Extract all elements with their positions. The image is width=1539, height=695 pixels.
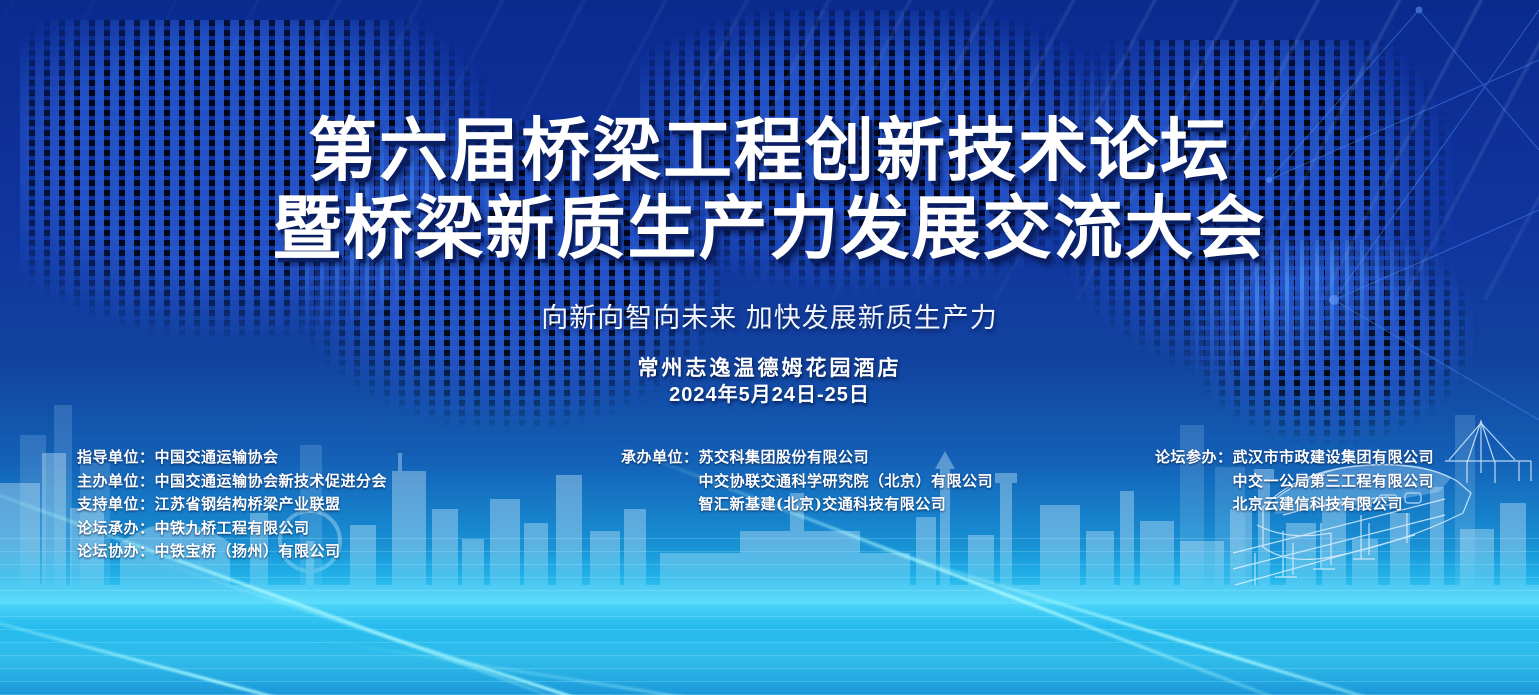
conference-banner: 第六届桥梁工程创新技术论坛 暨桥梁新质生产力发展交流大会 向新向智向未来 加快发… [0,0,1539,695]
event-date: 2024年5月24日-25日 [0,378,1539,407]
credits-section: 指导单位： 中国交通运输协会 主办单位： 中国交通运输协会新技术促进分会 支持单… [0,444,1539,574]
credit-value: 武汉市市政建设集团有限公司 [1233,446,1435,470]
credit-label: 主办单位： [77,470,155,494]
credit-label: 论坛参办： [1155,446,1233,517]
credit-label: 承办单位： [621,446,699,517]
credit-value: 中交一公局第三工程有限公司 [1233,470,1435,494]
credit-value: 江苏省钢结构桥梁产业联盟 [155,493,341,517]
credit-value: 北京云建信科技有限公司 [1233,493,1435,517]
credit-value: 中铁九桥工程有限公司 [155,517,310,541]
credits-column-right: 论坛参办： 武汉市市政建设集团有限公司 中交一公局第三工程有限公司 北京云建信科… [1155,446,1434,517]
credits-column-middle: 承办单位： 苏交科集团股份有限公司 中交协联交通科学研究院（北京）有限公司 智汇… [621,446,993,517]
credit-value: 中国交通运输协会 [155,446,279,470]
credits-column-left: 指导单位： 中国交通运输协会 主办单位： 中国交通运输协会新技术促进分会 支持单… [77,446,387,564]
credit-value: 智汇新基建(北京)交通科技有限公司 [699,493,994,517]
credit-label: 支持单位： [77,493,155,517]
credit-row: 论坛参办： 武汉市市政建设集团有限公司 中交一公局第三工程有限公司 北京云建信科… [1155,446,1434,517]
event-title: 第六届桥梁工程创新技术论坛 暨桥梁新质生产力发展交流大会 [0,112,1539,268]
credit-row: 指导单位： 中国交通运输协会 [77,446,387,470]
credit-value-list: 苏交科集团股份有限公司 中交协联交通科学研究院（北京）有限公司 智汇新基建(北京… [699,446,994,517]
credit-value: 中铁宝桥（扬州）有限公司 [155,540,341,564]
credit-row: 承办单位： 苏交科集团股份有限公司 中交协联交通科学研究院（北京）有限公司 智汇… [621,446,993,517]
credit-row: 主办单位： 中国交通运输协会新技术促进分会 [77,470,387,494]
credit-value: 中交协联交通科学研究院（北京）有限公司 [699,470,994,494]
credit-row: 支持单位： 江苏省钢结构桥梁产业联盟 [77,493,387,517]
credit-label: 论坛承办： [77,517,155,541]
event-subtitle: 向新向智向未来 加快发展新质生产力 [0,296,1539,335]
credit-label: 论坛协办： [77,540,155,564]
credit-row: 论坛承办： 中铁九桥工程有限公司 [77,517,387,541]
credit-value: 苏交科集团股份有限公司 [699,446,994,470]
title-line-2: 暨桥梁新质生产力发展交流大会 [0,190,1539,268]
credit-value-list: 武汉市市政建设集团有限公司 中交一公局第三工程有限公司 北京云建信科技有限公司 [1233,446,1435,517]
credit-label: 指导单位： [77,446,155,470]
title-line-1: 第六届桥梁工程创新技术论坛 [308,111,1231,191]
credit-value: 中国交通运输协会新技术促进分会 [155,470,388,494]
credit-row: 论坛协办： 中铁宝桥（扬州）有限公司 [77,540,387,564]
